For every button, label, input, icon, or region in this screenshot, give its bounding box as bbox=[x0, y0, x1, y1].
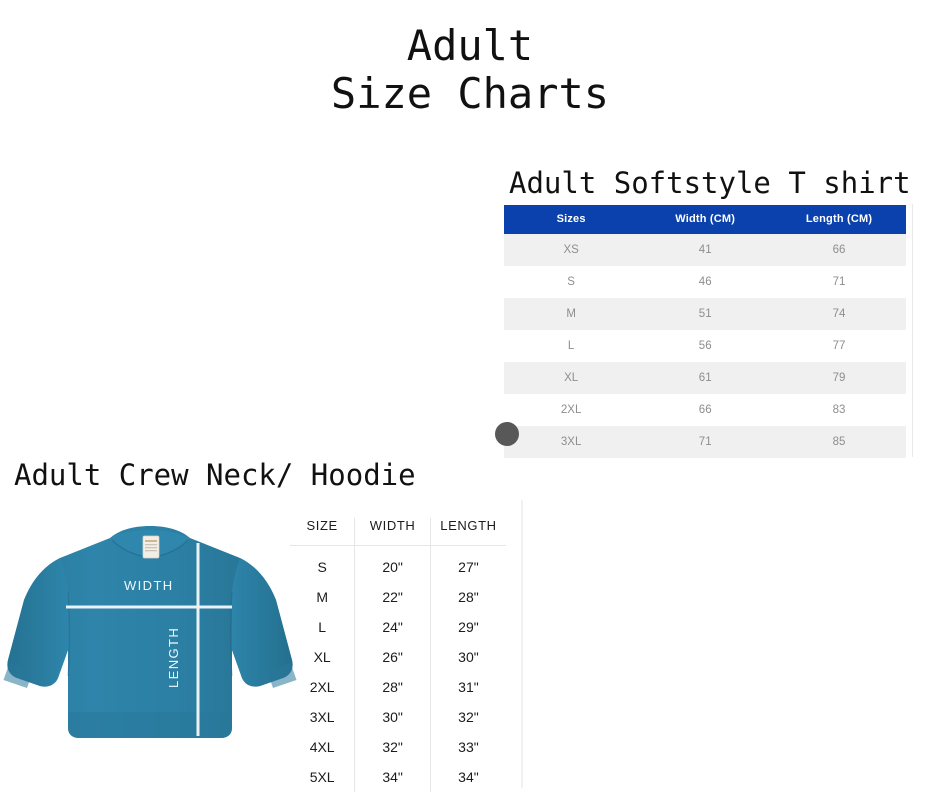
cell-size: M bbox=[290, 582, 355, 612]
table-row: L 56 77 bbox=[504, 330, 906, 362]
cell-length: 30" bbox=[430, 642, 506, 672]
cell-width: 56 bbox=[638, 330, 772, 362]
cell-width: 20" bbox=[355, 546, 431, 583]
cell-size: XS bbox=[504, 234, 638, 266]
cell-width: 24" bbox=[355, 612, 431, 642]
cell-width: 22" bbox=[355, 582, 431, 612]
table-row: M 51 74 bbox=[504, 298, 906, 330]
cell-size: S bbox=[290, 546, 355, 583]
cell-size: 3XL bbox=[290, 702, 355, 732]
cell-width: 66 bbox=[638, 394, 772, 426]
table-row: XS 41 66 bbox=[504, 234, 906, 266]
table-row: 3XL 30" 32" bbox=[290, 702, 506, 732]
width-guide-label: WIDTH bbox=[124, 578, 174, 593]
cell-size: L bbox=[290, 612, 355, 642]
cell-length: 83 bbox=[772, 394, 906, 426]
softstyle-table-right-rule bbox=[912, 204, 913, 457]
crewneck-header-row: SIZE WIDTH LENGTH bbox=[290, 518, 506, 546]
cell-length: 32" bbox=[430, 702, 506, 732]
table-row: M 22" 28" bbox=[290, 582, 506, 612]
cell-length: 31" bbox=[430, 672, 506, 702]
table-row: 2XL 28" 31" bbox=[290, 672, 506, 702]
table-row: XL 61 79 bbox=[504, 362, 906, 394]
softstyle-col-width: Width (CM) bbox=[638, 205, 772, 234]
cell-size: XL bbox=[504, 362, 638, 394]
cell-size: M bbox=[504, 298, 638, 330]
cell-length: 77 bbox=[772, 330, 906, 362]
table-row: 2XL 66 83 bbox=[504, 394, 906, 426]
table-row: 4XL 32" 33" bbox=[290, 732, 506, 762]
cell-size: S bbox=[504, 266, 638, 298]
cell-width: 30" bbox=[355, 702, 431, 732]
cell-length: 28" bbox=[430, 582, 506, 612]
table-row: XL 26" 30" bbox=[290, 642, 506, 672]
table-row: 3XL 71 85 bbox=[504, 426, 906, 458]
cell-length: 71 bbox=[772, 266, 906, 298]
softstyle-col-length: Length (CM) bbox=[772, 205, 906, 234]
page-title-line1: Adult bbox=[407, 21, 533, 70]
cell-length: 79 bbox=[772, 362, 906, 394]
cell-width: 51 bbox=[638, 298, 772, 330]
crewneck-size-table: SIZE WIDTH LENGTH S 20" 27" M 22" 28" L … bbox=[290, 518, 506, 792]
circular-watermark-icon bbox=[495, 422, 519, 446]
cell-width: 28" bbox=[355, 672, 431, 702]
cell-width: 71 bbox=[638, 426, 772, 458]
crewneck-heading: Adult Crew Neck/ Hoodie bbox=[14, 458, 416, 492]
softstyle-heading: Adult Softstyle T shirt bbox=[509, 166, 911, 200]
crewneck-panel-divider bbox=[521, 500, 523, 788]
page-title-line2: Size Charts bbox=[331, 69, 609, 118]
cell-length: 74 bbox=[772, 298, 906, 330]
table-row: S 46 71 bbox=[504, 266, 906, 298]
table-row: L 24" 29" bbox=[290, 612, 506, 642]
cell-width: 41 bbox=[638, 234, 772, 266]
cell-length: 29" bbox=[430, 612, 506, 642]
crewneck-col-width: WIDTH bbox=[355, 518, 431, 546]
crewneck-col-length: LENGTH bbox=[430, 518, 506, 546]
page-title: AdultSize Charts bbox=[0, 22, 940, 118]
crewneck-col-size: SIZE bbox=[290, 518, 355, 546]
cell-size: XL bbox=[290, 642, 355, 672]
cell-width: 32" bbox=[355, 732, 431, 762]
cell-size: 3XL bbox=[504, 426, 638, 458]
cell-size: 2XL bbox=[504, 394, 638, 426]
cell-width: 26" bbox=[355, 642, 431, 672]
cell-size: 2XL bbox=[290, 672, 355, 702]
softstyle-size-table: Sizes Width (CM) Length (CM) XS 41 66 S … bbox=[504, 205, 906, 458]
cell-length: 27" bbox=[430, 546, 506, 583]
cell-width: 46 bbox=[638, 266, 772, 298]
softstyle-header-row: Sizes Width (CM) Length (CM) bbox=[504, 205, 906, 234]
length-guide-label: LENGTH bbox=[166, 627, 181, 688]
cell-length: 85 bbox=[772, 426, 906, 458]
sweatshirt-illustration: WIDTH LENGTH bbox=[0, 500, 300, 788]
sweatshirt-body bbox=[4, 526, 297, 738]
cell-size: 4XL bbox=[290, 732, 355, 762]
softstyle-col-size: Sizes bbox=[504, 205, 638, 234]
cell-length: 33" bbox=[430, 732, 506, 762]
table-row: S 20" 27" bbox=[290, 546, 506, 583]
cell-size: L bbox=[504, 330, 638, 362]
cell-width: 61 bbox=[638, 362, 772, 394]
cell-length: 66 bbox=[772, 234, 906, 266]
